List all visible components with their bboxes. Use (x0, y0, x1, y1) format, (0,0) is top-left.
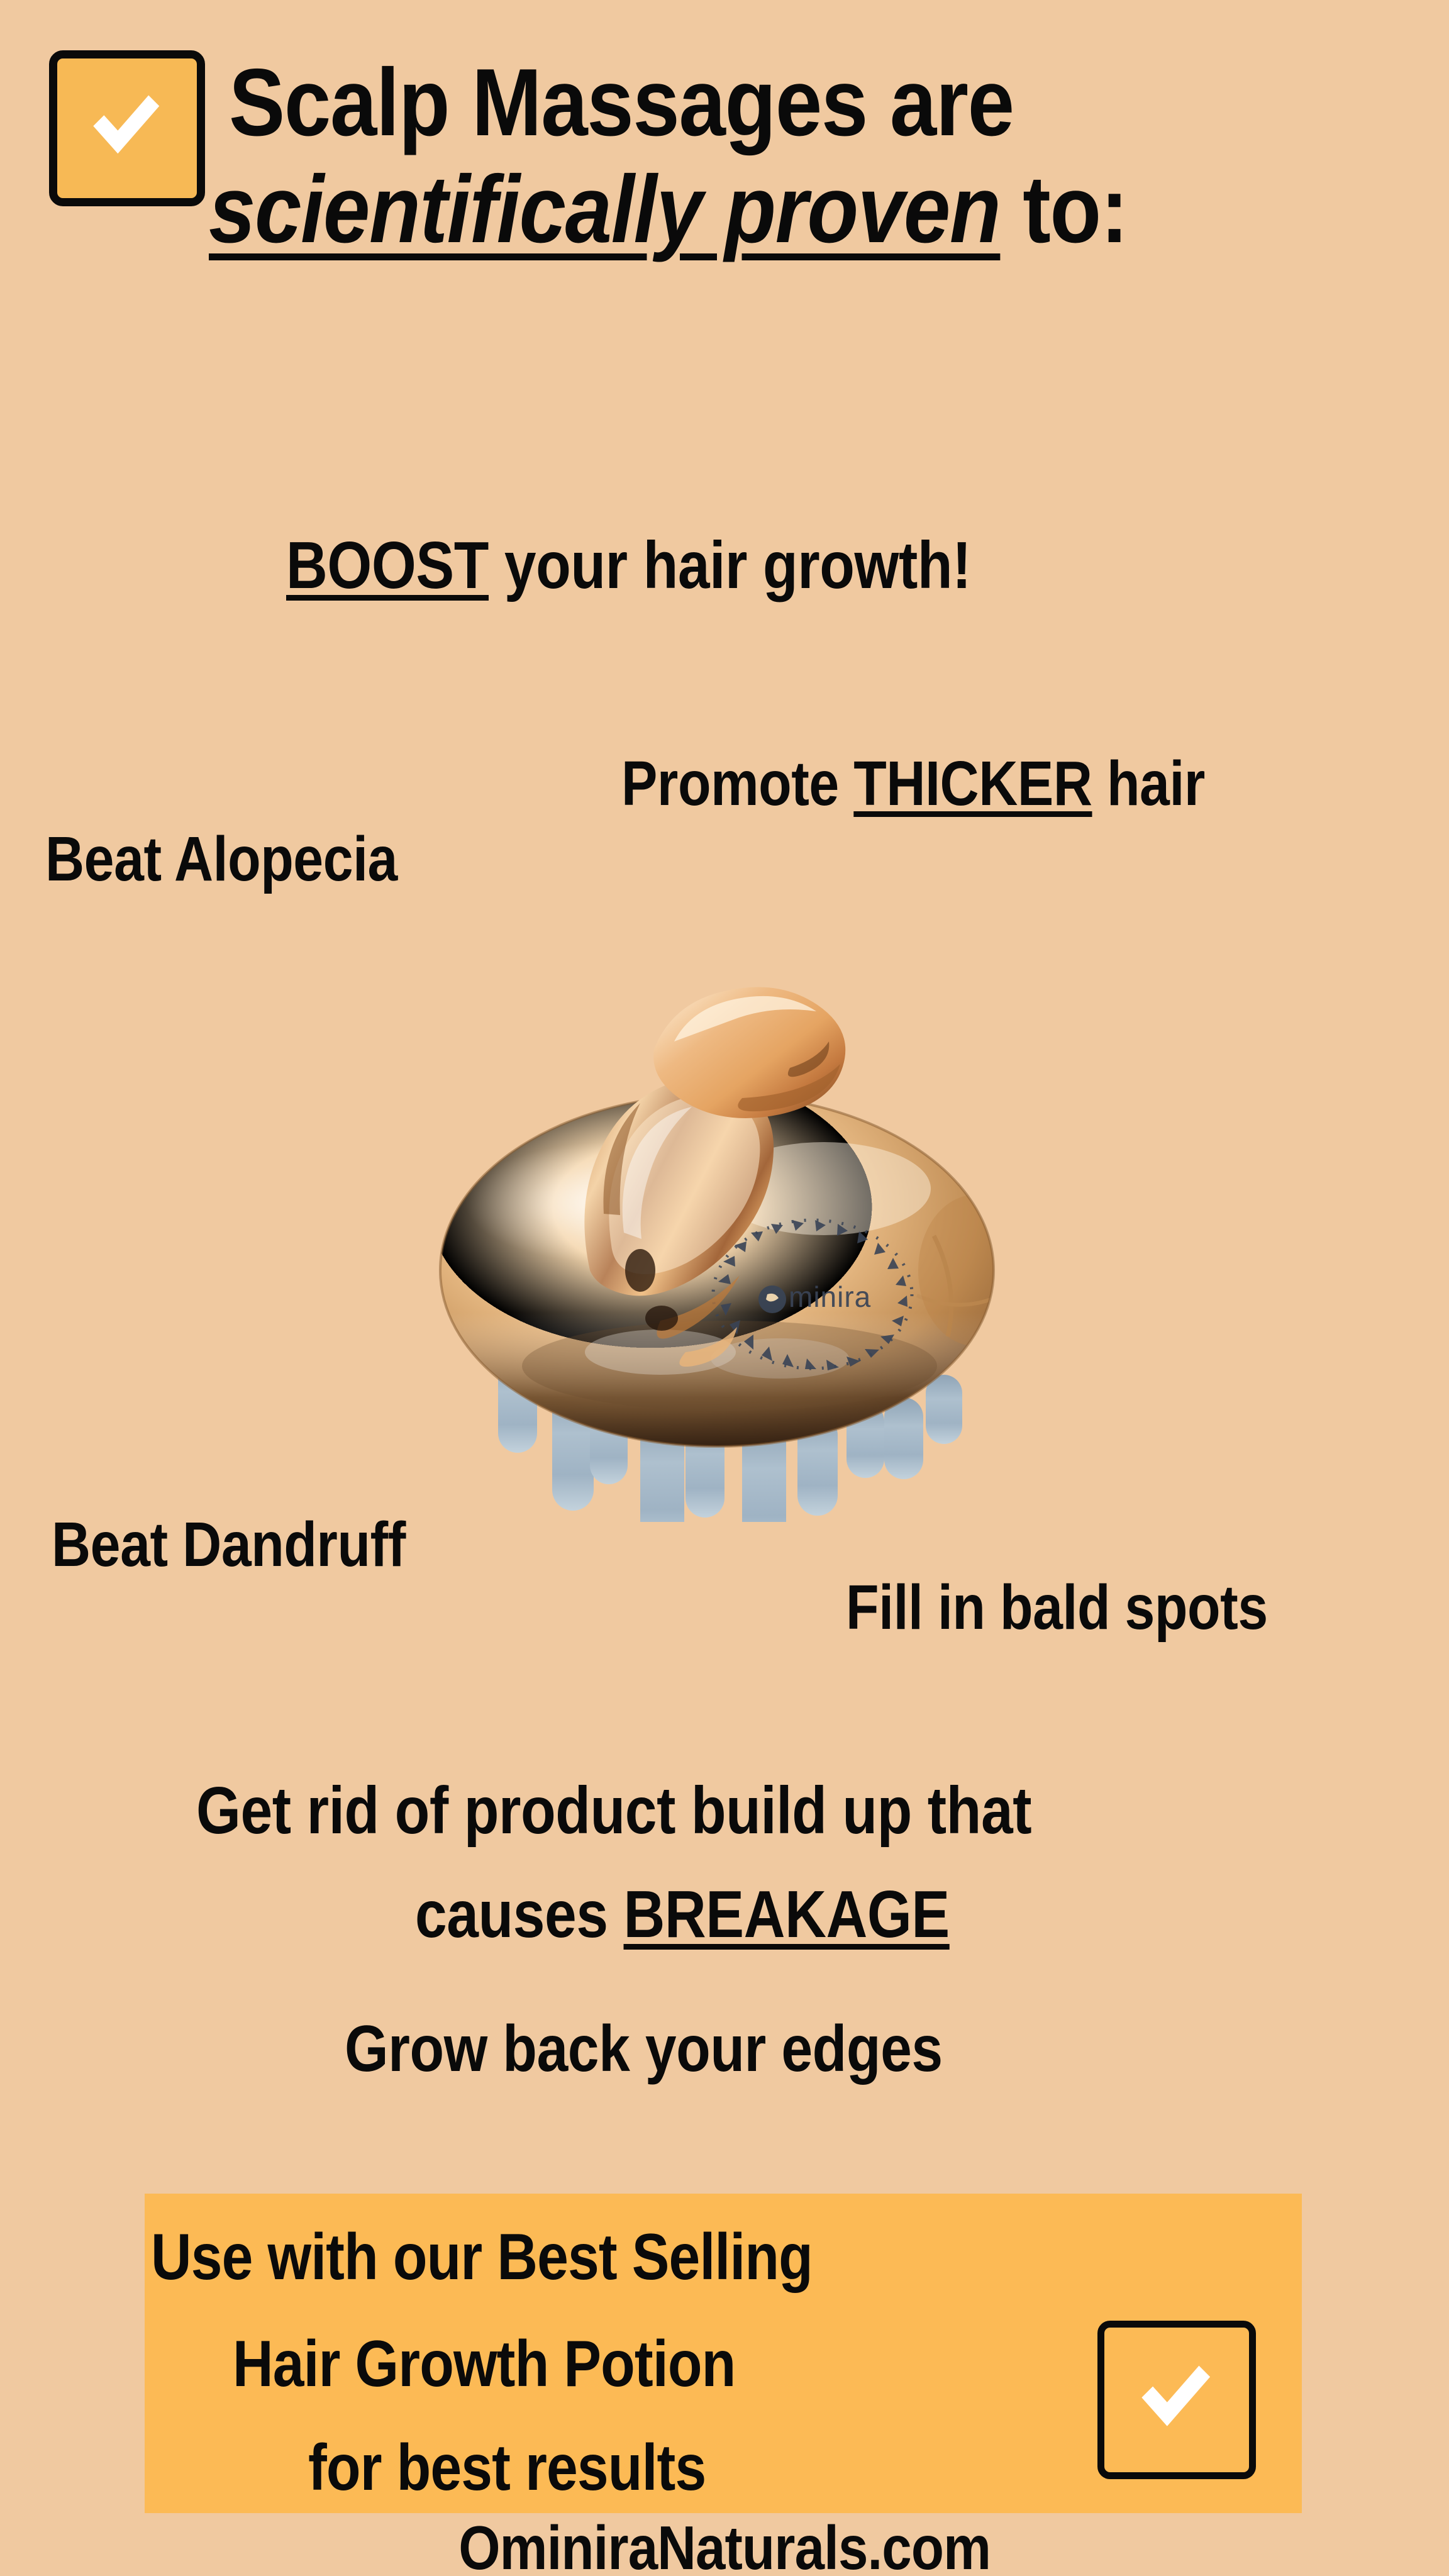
headline-emphasis: scientifically proven (209, 156, 1000, 263)
benefit-thicker-rest: hair (1092, 748, 1204, 819)
benefit-dandruff: Beat Dandruff (52, 1509, 406, 1580)
benefit-boost: BOOST your hair growth! (286, 528, 971, 603)
checkbox-checked-icon-cta (1097, 2321, 1256, 2479)
benefit-breakage-emphasis: BREAKAGE (624, 1877, 950, 1951)
benefit-thicker-emphasis: THICKER (853, 748, 1092, 819)
scalp-massager-product-image: minira (390, 918, 1057, 1522)
headline-line-1: Scalp Massages are (229, 49, 1258, 156)
svg-text:minira: minira (789, 1280, 871, 1313)
cta-line-1: Use with our Best Selling (151, 2220, 813, 2295)
benefit-boost-emphasis: BOOST (286, 528, 489, 602)
page-title: Scalp Massages are scientifically proven… (53, 49, 1399, 263)
product-top-pad (653, 987, 845, 1118)
benefit-boost-rest: your hair growth! (489, 528, 971, 602)
cta-line-2: Hair Growth Potion (233, 2327, 735, 2402)
benefit-breakage-prefix: causes (415, 1877, 624, 1951)
benefit-thicker-prefix: Promote (621, 748, 853, 819)
benefit-alopecia: Beat Alopecia (45, 824, 397, 894)
footer-url-text: OminiraNaturals.com (458, 2512, 991, 2576)
benefit-thicker: Promote THICKER hair (621, 748, 1205, 819)
benefit-breakage-line-2: causes BREAKAGE (415, 1877, 950, 1952)
footer-website-url[interactable]: OminiraNaturals.com (0, 2512, 1449, 2576)
checkmark-icon (1135, 2356, 1215, 2436)
headline-suffix: to: (1000, 156, 1128, 263)
cta-line-3: for best results (308, 2431, 706, 2506)
benefit-bald-spots: Fill in bald spots (846, 1572, 1268, 1643)
headline-line-2: scientifically proven to: (209, 156, 1256, 263)
poster-canvas: Scalp Massages are scientifically proven… (0, 0, 1449, 2576)
benefit-edges: Grow back your edges (345, 2012, 943, 2085)
benefit-breakage-line-1: Get rid of product build up that (196, 1774, 1031, 1848)
